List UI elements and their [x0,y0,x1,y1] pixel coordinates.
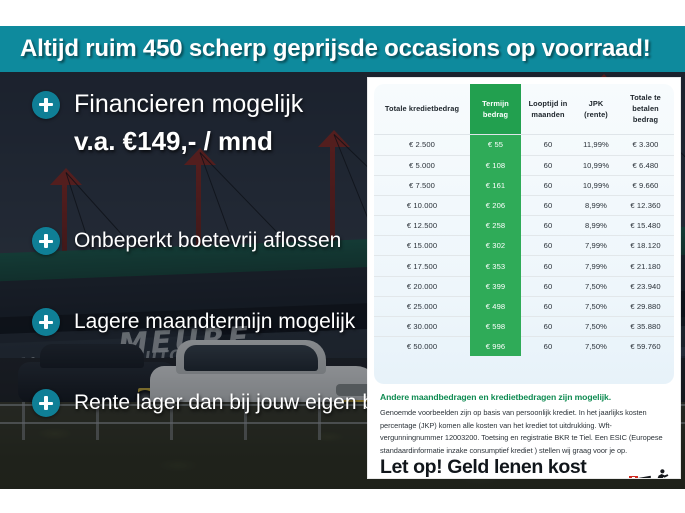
table-row: € 17.500€ 353607,99%€ 21.180 [374,256,674,276]
cell-jpk: 11,99% [575,135,617,155]
cell-termijn: € 302 [470,236,521,256]
cell-jpk: 7,50% [575,337,617,357]
cell-termijn: € 161 [470,175,521,195]
cell-termijn: € 353 [470,256,521,276]
benefit-label: Rente lager dan bij jouw eigen bank [74,391,408,415]
cell-krediet: € 20.000 [374,276,470,296]
cell-jpk: 8,99% [575,216,617,236]
cell-jpk: 7,50% [575,317,617,337]
table-row: € 5.000€ 1086010,99%€ 6.480 [374,155,674,175]
plus-icon [32,227,60,255]
cell-looptijd: 60 [521,236,575,256]
benefits-list: Financieren mogelijk v.a. €149,- / mnd O… [0,72,366,489]
running-man-icon [629,468,670,478]
note-body: Genoemde voorbeelden zijn op basis van p… [380,407,668,458]
cell-jpk: 10,99% [575,155,617,175]
cell-looptijd: 60 [521,216,575,236]
table-header-row: Totale kredietbedrag Termijn bedrag Loop… [374,84,674,135]
table-row: € 10.000€ 206608,99%€ 12.360 [374,195,674,215]
table-row: € 50.000€ 996607,50%€ 59.760 [374,337,674,357]
plus-icon [32,308,60,336]
table-row: € 7.500€ 1616010,99%€ 9.660 [374,175,674,195]
col-header-totaal: Totale te betalen bedrag [617,84,674,135]
rates-card: Totale kredietbedrag Termijn bedrag Loop… [368,78,680,478]
benefit-item-financiering: Financieren mogelijk [32,90,303,119]
warning-text: Let op! Geld lenen kost geld [380,456,623,478]
table-row: € 2.500€ 556011,99%€ 3.300 [374,135,674,155]
cell-termijn: € 55 [470,135,521,155]
cell-krediet: € 50.000 [374,337,470,357]
cell-krediet: € 10.000 [374,195,470,215]
table-row: € 30.000€ 598607,50%€ 35.880 [374,317,674,337]
cell-looptijd: 60 [521,195,575,215]
table-row: € 12.500€ 258608,99%€ 15.480 [374,216,674,236]
cell-krediet: € 5.000 [374,155,470,175]
benefit-subline-price: v.a. €149,- / mnd [74,126,273,157]
cell-totaal: € 15.480 [617,216,674,236]
col-header-krediet: Totale kredietbedrag [374,84,470,135]
cell-krediet: € 15.000 [374,236,470,256]
cell-termijn: € 206 [470,195,521,215]
col-header-jpk: JPK (rente) [575,84,617,135]
benefit-label: Onbeperkt boetevrij aflossen [74,229,341,253]
cell-totaal: € 23.940 [617,276,674,296]
cell-looptijd: 60 [521,175,575,195]
cell-termijn: € 498 [470,296,521,316]
cell-krediet: € 25.000 [374,296,470,316]
cell-termijn: € 399 [470,276,521,296]
cell-looptijd: 60 [521,337,575,357]
cell-jpk: 10,99% [575,175,617,195]
cell-looptijd: 60 [521,135,575,155]
cell-krediet: € 7.500 [374,175,470,195]
cell-totaal: € 59.760 [617,337,674,357]
rates-table-body: € 2.500€ 556011,99%€ 3.300€ 5.000€ 10860… [374,135,674,357]
benefit-item-maandtermijn: Lagere maandtermijn mogelijk [32,308,355,336]
table-row: € 25.000€ 498607,50%€ 29.880 [374,296,674,316]
cell-looptijd: 60 [521,155,575,175]
table-row: € 20.000€ 399607,50%€ 23.940 [374,276,674,296]
cell-looptijd: 60 [521,256,575,276]
col-header-termijn: Termijn bedrag [470,84,521,135]
rates-table: Totale kredietbedrag Termijn bedrag Loop… [374,84,674,356]
benefit-label: Lagere maandtermijn mogelijk [74,310,355,334]
warning-line: Let op! Geld lenen kost geld [380,456,670,478]
cell-krediet: € 17.500 [374,256,470,276]
cell-krediet: € 2.500 [374,135,470,155]
cell-krediet: € 12.500 [374,216,470,236]
note-title: Andere maandbedragen en kredietbedragen … [380,392,670,402]
benefit-item-aflossen: Onbeperkt boetevrij aflossen [32,227,341,255]
cell-totaal: € 21.180 [617,256,674,276]
cell-totaal: € 35.880 [617,317,674,337]
cell-jpk: 7,50% [575,276,617,296]
cell-looptijd: 60 [521,276,575,296]
benefit-label: Financieren mogelijk [74,90,303,119]
cell-jpk: 7,99% [575,256,617,276]
cell-termijn: € 108 [470,155,521,175]
cell-totaal: € 6.480 [617,155,674,175]
cell-looptijd: 60 [521,296,575,316]
headline-text: Altijd ruim 450 scherp geprijsde occasio… [0,26,685,72]
plus-icon [32,389,60,417]
cell-jpk: 7,99% [575,236,617,256]
table-row: € 15.000€ 302607,99%€ 18.120 [374,236,674,256]
benefit-item-rente: Rente lager dan bij jouw eigen bank [32,389,408,417]
cell-termijn: € 598 [470,317,521,337]
cell-totaal: € 9.660 [617,175,674,195]
cell-looptijd: 60 [521,317,575,337]
plus-icon [32,91,60,119]
cell-totaal: € 12.360 [617,195,674,215]
cell-termijn: € 996 [470,337,521,357]
cell-jpk: 8,99% [575,195,617,215]
cell-totaal: € 18.120 [617,236,674,256]
cell-termijn: € 258 [470,216,521,236]
cell-jpk: 7,50% [575,296,617,316]
cell-totaal: € 29.880 [617,296,674,316]
cell-totaal: € 3.300 [617,135,674,155]
col-header-looptijd: Looptijd in maanden [521,84,575,135]
cell-krediet: € 30.000 [374,317,470,337]
advert-stage: MEURE DEALER INRUILAUTO'S JOHAN ALTIJD 4… [0,0,685,513]
